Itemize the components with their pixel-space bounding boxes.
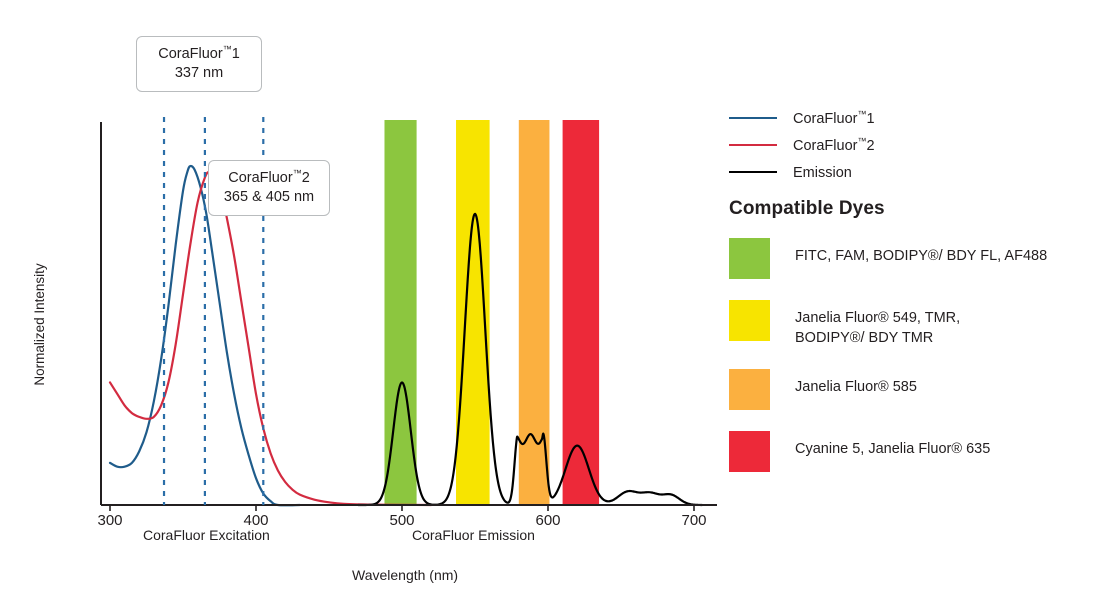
- y-axis-title: Normalized Intensity: [32, 252, 47, 397]
- compatible-dyes-title: Compatible Dyes: [729, 198, 1104, 220]
- legend-item-label: CoraFluor™1: [793, 109, 875, 127]
- dye-row-0: FITC, FAM, BODIPY®/ BDY FL, AF488: [729, 238, 1104, 279]
- x-tick-label-700: 700: [672, 512, 716, 529]
- dye-label: FITC, FAM, BODIPY®/ BDY FL, AF488: [795, 238, 1047, 266]
- callout-corafluor2-value: 365 & 405 nm: [221, 188, 317, 207]
- dye-label-line1: Janelia Fluor® 585: [795, 377, 917, 397]
- dye-label-line2: BODIPY®/ BDY TMR: [795, 328, 960, 348]
- callout-corafluor2: CoraFluor™2 365 & 405 nm: [208, 160, 330, 216]
- legend-label-main: CoraFluor: [793, 110, 857, 126]
- compatible-dyes-list: FITC, FAM, BODIPY®/ BDY FL, AF488Janelia…: [729, 238, 1104, 472]
- callout1-number: 1: [232, 46, 240, 62]
- dye-label: Cyanine 5, Janelia Fluor® 635: [795, 431, 990, 459]
- chart-legend: CoraFluor™1CoraFluor™2Emission: [729, 104, 1099, 185]
- callout-corafluor2-title: CoraFluor™2: [221, 168, 317, 188]
- dye-row-2: Janelia Fluor® 585: [729, 369, 1104, 410]
- callout2-number: 2: [302, 170, 310, 186]
- figure-root: Normalized Intensity Wavelength (nm) Cor…: [0, 0, 1110, 612]
- x-tick-label-600: 600: [526, 512, 570, 529]
- callout-corafluor1-title: CoraFluor™1: [149, 44, 249, 64]
- dye-label-line1: Cyanine 5, Janelia Fluor® 635: [795, 439, 990, 459]
- x-tick-label-400: 400: [234, 512, 278, 529]
- chart-plot-area: Normalized Intensity Wavelength (nm) Cor…: [0, 0, 740, 612]
- compatible-dyes-panel: Compatible Dyes FITC, FAM, BODIPY®/ BDY …: [729, 198, 1104, 493]
- callout-corafluor1-value: 337 nm: [149, 64, 249, 83]
- legend-item-label: Emission: [793, 163, 852, 181]
- dye-color-swatch: [729, 369, 770, 410]
- legend-line-swatch: [729, 144, 777, 146]
- legend-label-number: 2: [866, 137, 874, 153]
- callout-corafluor1: CoraFluor™1 337 nm: [136, 36, 262, 92]
- callout1-name: CoraFluor: [158, 46, 222, 62]
- dye-row-1: Janelia Fluor® 549, TMR,BODIPY®/ BDY TMR: [729, 300, 1104, 348]
- dye-color-swatch: [729, 300, 770, 341]
- callout2-name: CoraFluor: [228, 170, 292, 186]
- dye-color-swatch: [729, 238, 770, 279]
- excitation-section-label: CoraFluor Excitation: [143, 527, 270, 543]
- legend-label-main: Emission: [793, 164, 852, 180]
- x-axis-title: Wavelength (nm): [352, 567, 458, 583]
- legend-line-swatch: [729, 171, 777, 173]
- emission-section-label: CoraFluor Emission: [412, 527, 535, 543]
- legend-line-swatch: [729, 117, 777, 119]
- dye-label: Janelia Fluor® 585: [795, 369, 917, 397]
- legend-item-1: CoraFluor™2: [729, 131, 1099, 158]
- curve-corafluor2: [110, 172, 431, 505]
- legend-item-0: CoraFluor™1: [729, 104, 1099, 131]
- legend-item-2: Emission: [729, 158, 1099, 185]
- legend-label-number: 1: [866, 110, 874, 126]
- x-tick-label-300: 300: [88, 512, 132, 529]
- dye-label-line1: FITC, FAM, BODIPY®/ BDY FL, AF488: [795, 246, 1047, 266]
- dye-label-line1: Janelia Fluor® 549, TMR,: [795, 308, 960, 328]
- legend-item-label: CoraFluor™2: [793, 136, 875, 154]
- dye-color-swatch: [729, 431, 770, 472]
- dye-row-3: Cyanine 5, Janelia Fluor® 635: [729, 431, 1104, 472]
- x-tick-label-500: 500: [380, 512, 424, 529]
- dye-label: Janelia Fluor® 549, TMR,BODIPY®/ BDY TMR: [795, 300, 960, 348]
- trademark-icon: ™: [293, 168, 302, 178]
- legend-label-main: CoraFluor: [793, 137, 857, 153]
- trademark-icon: ™: [223, 44, 232, 54]
